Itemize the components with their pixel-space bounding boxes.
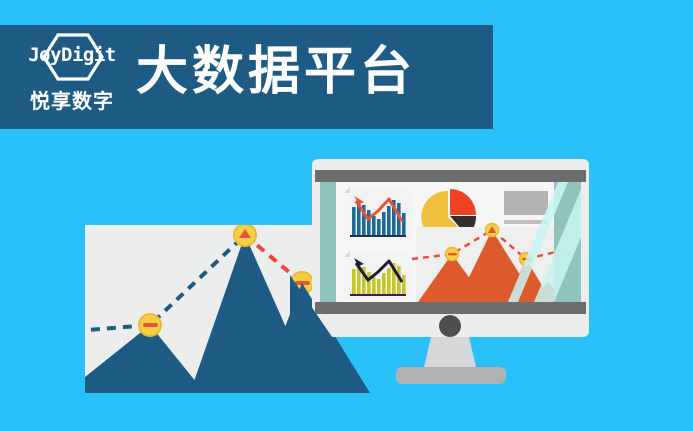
mountain-area-chart-panel: [85, 225, 315, 393]
brand-logo[interactable]: JoyDigit 悦享数字: [18, 33, 126, 115]
page-title: 大数据平台: [136, 44, 416, 100]
logo-wordmark: JoyDigit: [18, 44, 126, 66]
monitor-power-button: [439, 315, 461, 337]
card-blue-baseline: [350, 235, 406, 237]
bar-line-card-blue: [344, 187, 410, 240]
illustration-canvas: JoyDigit 悦享数字 大数据平台: [0, 0, 693, 431]
mountain-shapes: [85, 235, 315, 393]
left-panel-artwork: [85, 225, 315, 393]
monitor-base: [396, 367, 506, 384]
logo-subtitle: 悦享数字: [18, 85, 126, 114]
monitor-top-bar: [315, 170, 586, 182]
placeholder-image-block: [504, 191, 548, 215]
monitor-stand: [424, 337, 476, 367]
mountain-over-monitor: [290, 275, 400, 395]
